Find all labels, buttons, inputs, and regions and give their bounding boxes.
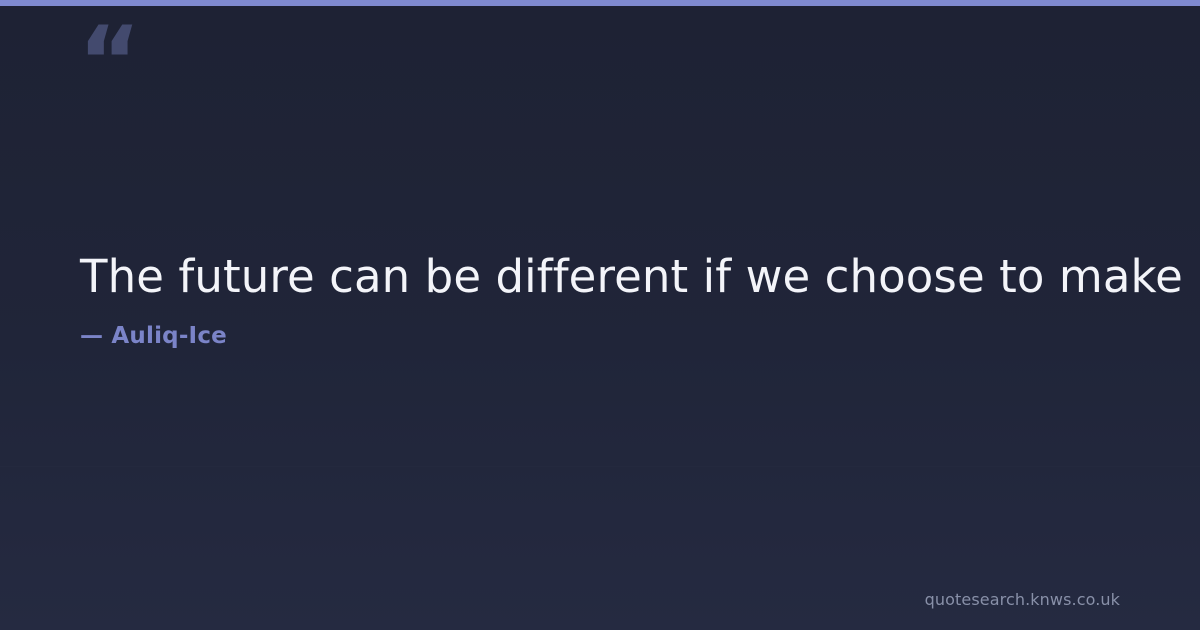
quote-card: “ The future can be different if we choo… bbox=[0, 0, 1200, 630]
quote-content-block: The future can be different if we choose… bbox=[80, 250, 1120, 348]
background-seam-divider bbox=[0, 466, 1200, 467]
quote-text: The future can be different if we choose… bbox=[80, 250, 1120, 303]
quote-attribution: — Auliq-Ice bbox=[80, 303, 1120, 348]
top-accent-bar bbox=[0, 0, 1200, 6]
site-watermark: quotesearch.knws.co.uk bbox=[925, 592, 1120, 608]
left-double-quotation-mark-icon: “ bbox=[78, 14, 139, 110]
